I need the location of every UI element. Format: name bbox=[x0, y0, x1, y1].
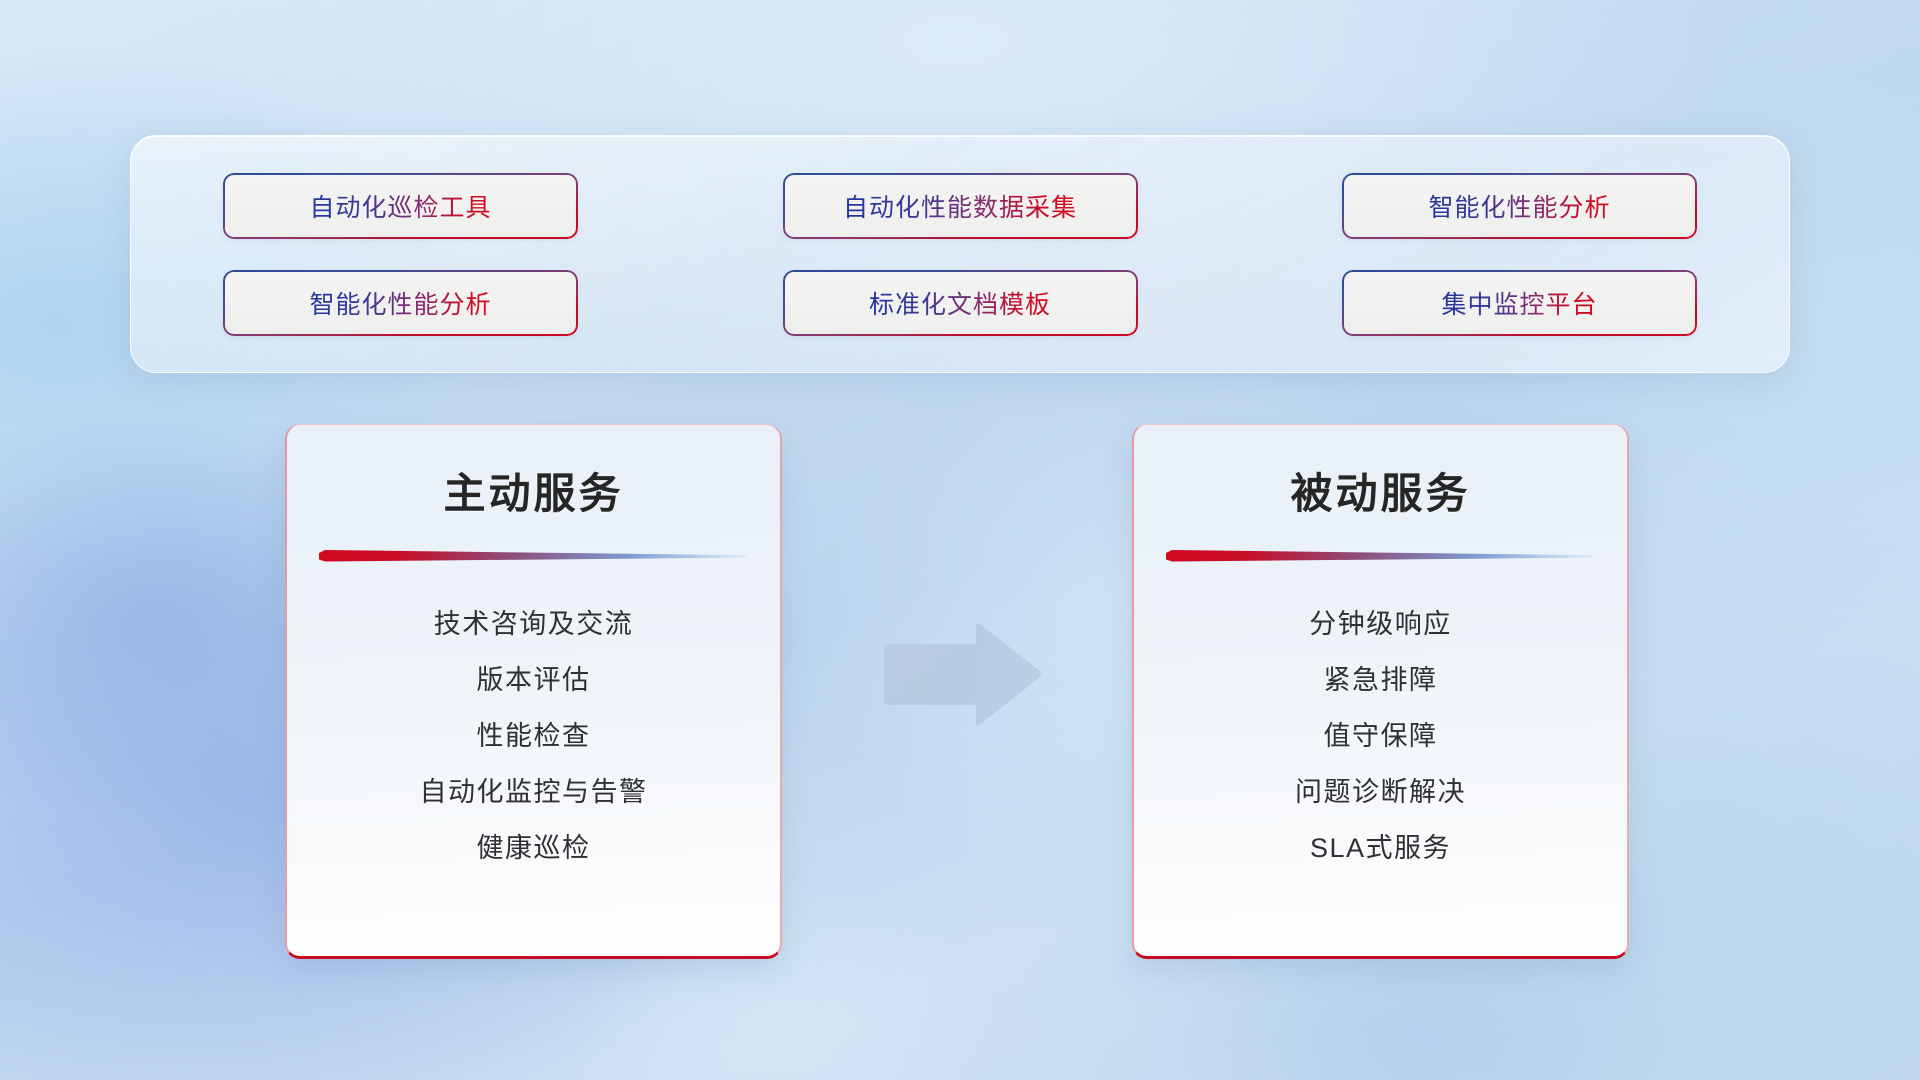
tool-pill-central-monitoring[interactable]: 集中监控平台 bbox=[1342, 270, 1697, 336]
tool-pill-smart-perf-analysis-2[interactable]: 智能化性能分析 bbox=[223, 270, 578, 336]
arrow-right-icon bbox=[878, 622, 1043, 727]
title-divider bbox=[1166, 549, 1595, 565]
service-card-passive: 被动服务 分钟级响应 紧急排障 值守保障 问题诊断解决 SLA式服务 bbox=[1132, 424, 1629, 959]
service-card-title: 被动服务 bbox=[1134, 460, 1627, 521]
list-item[interactable]: 分钟级响应 bbox=[1134, 597, 1627, 653]
tools-row-2: 智能化性能分析 标准化文档模板 集中监控平台 bbox=[131, 270, 1789, 336]
tools-panel: 自动化巡检工具 自动化性能数据采集 智能化性能分析 智能化性能分析 标准化文档模… bbox=[130, 135, 1790, 373]
service-card-active: 主动服务 技术咨询及交流 版本评估 性能检查 自动化监控与告警 健康巡检 bbox=[285, 424, 782, 959]
tool-pill-doc-template[interactable]: 标准化文档模板 bbox=[783, 270, 1138, 336]
tool-pill-label: 智能化性能分析 bbox=[309, 285, 491, 321]
tool-pill-auto-inspection[interactable]: 自动化巡检工具 bbox=[223, 173, 578, 239]
list-item[interactable]: 值守保障 bbox=[1134, 709, 1627, 765]
list-item[interactable]: 紧急排障 bbox=[1134, 653, 1627, 709]
tool-pill-label: 自动化性能数据采集 bbox=[843, 188, 1077, 224]
list-item[interactable]: 自动化监控与告警 bbox=[287, 765, 780, 821]
list-item[interactable]: SLA式服务 bbox=[1134, 821, 1627, 877]
tool-pill-label: 集中监控平台 bbox=[1441, 285, 1597, 321]
tool-pill-smart-perf-analysis[interactable]: 智能化性能分析 bbox=[1342, 173, 1697, 239]
tool-pill-auto-perf-collect[interactable]: 自动化性能数据采集 bbox=[783, 173, 1138, 239]
service-list-active: 技术咨询及交流 版本评估 性能检查 自动化监控与告警 健康巡检 bbox=[287, 597, 780, 877]
list-item[interactable]: 技术咨询及交流 bbox=[287, 597, 780, 653]
tool-pill-label: 标准化文档模板 bbox=[869, 285, 1051, 321]
tools-row-1: 自动化巡检工具 自动化性能数据采集 智能化性能分析 bbox=[131, 173, 1789, 239]
service-card-title: 主动服务 bbox=[287, 460, 780, 521]
list-item[interactable]: 健康巡检 bbox=[287, 821, 780, 877]
list-item[interactable]: 问题诊断解决 bbox=[1134, 765, 1627, 821]
title-divider bbox=[319, 549, 748, 565]
tool-pill-label: 智能化性能分析 bbox=[1428, 188, 1610, 224]
list-item[interactable]: 版本评估 bbox=[287, 653, 780, 709]
service-list-passive: 分钟级响应 紧急排障 值守保障 问题诊断解决 SLA式服务 bbox=[1134, 597, 1627, 877]
tool-pill-label: 自动化巡检工具 bbox=[309, 188, 491, 224]
list-item[interactable]: 性能检查 bbox=[287, 709, 780, 765]
